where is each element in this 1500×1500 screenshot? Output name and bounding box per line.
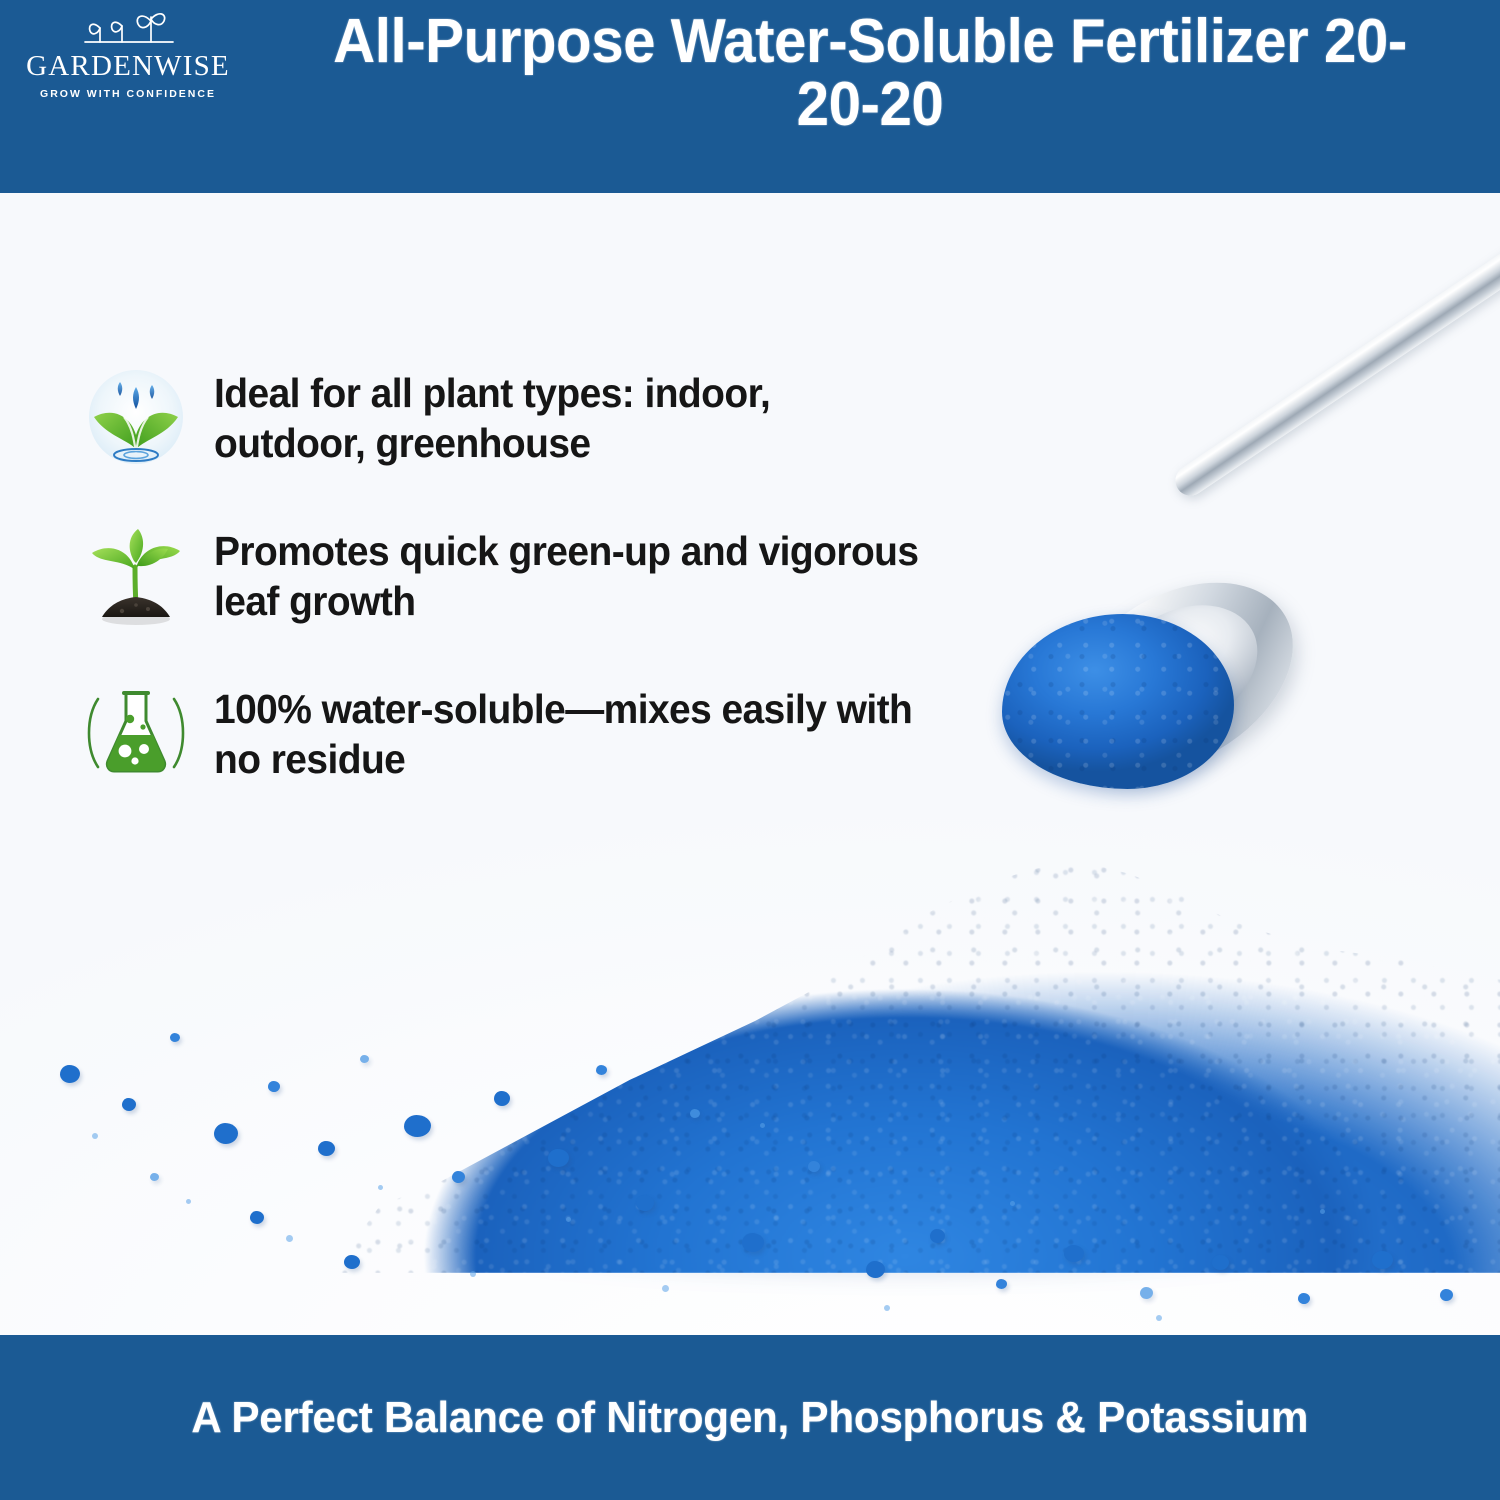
product-marketing-image: GARDENWISE GROW WITH CONFIDENCE All-Purp… [0, 0, 1500, 1500]
feature-item: 100% water-soluble—mixes easily with no … [82, 677, 962, 789]
spoon-bowl-inner [1067, 579, 1282, 771]
footer-banner: A Perfect Balance of Nitrogen, Phosphoru… [0, 1335, 1500, 1500]
feature-text: Ideal for all plant types: indoor, outdo… [214, 361, 925, 468]
spoon-powder-texture [1002, 614, 1234, 789]
spoon-powder-heap [1002, 614, 1234, 789]
feature-text: Promotes quick green-up and vigorous lea… [214, 519, 925, 626]
leaf-water-drops-icon [82, 361, 190, 473]
page-title: All-Purpose Water-Soluble Fertilizer 20-… [292, 10, 1448, 136]
spoon-handle [1170, 236, 1500, 501]
flask-icon [82, 677, 190, 789]
sprout-row-icon [63, 8, 193, 50]
feature-item: Promotes quick green-up and vigorous lea… [82, 519, 962, 631]
spoon-icon [980, 348, 1500, 908]
brand-logo: GARDENWISE GROW WITH CONFIDENCE [8, 8, 248, 100]
feature-text: 100% water-soluble—mixes easily with no … [214, 677, 925, 784]
main-content: Ideal for all plant types: indoor, outdo… [0, 193, 1500, 1335]
brand-name: GARDENWISE [8, 52, 248, 81]
feature-list: Ideal for all plant types: indoor, outdo… [82, 361, 962, 835]
feature-item: Ideal for all plant types: indoor, outdo… [82, 361, 962, 473]
spoon-bowl [1027, 545, 1326, 813]
footer-tagline: A Perfect Balance of Nitrogen, Phosphoru… [192, 1393, 1309, 1443]
seedling-soil-icon [82, 519, 190, 631]
brand-tagline: GROW WITH CONFIDENCE [8, 88, 248, 100]
header-banner: GARDENWISE GROW WITH CONFIDENCE All-Purp… [0, 0, 1500, 193]
